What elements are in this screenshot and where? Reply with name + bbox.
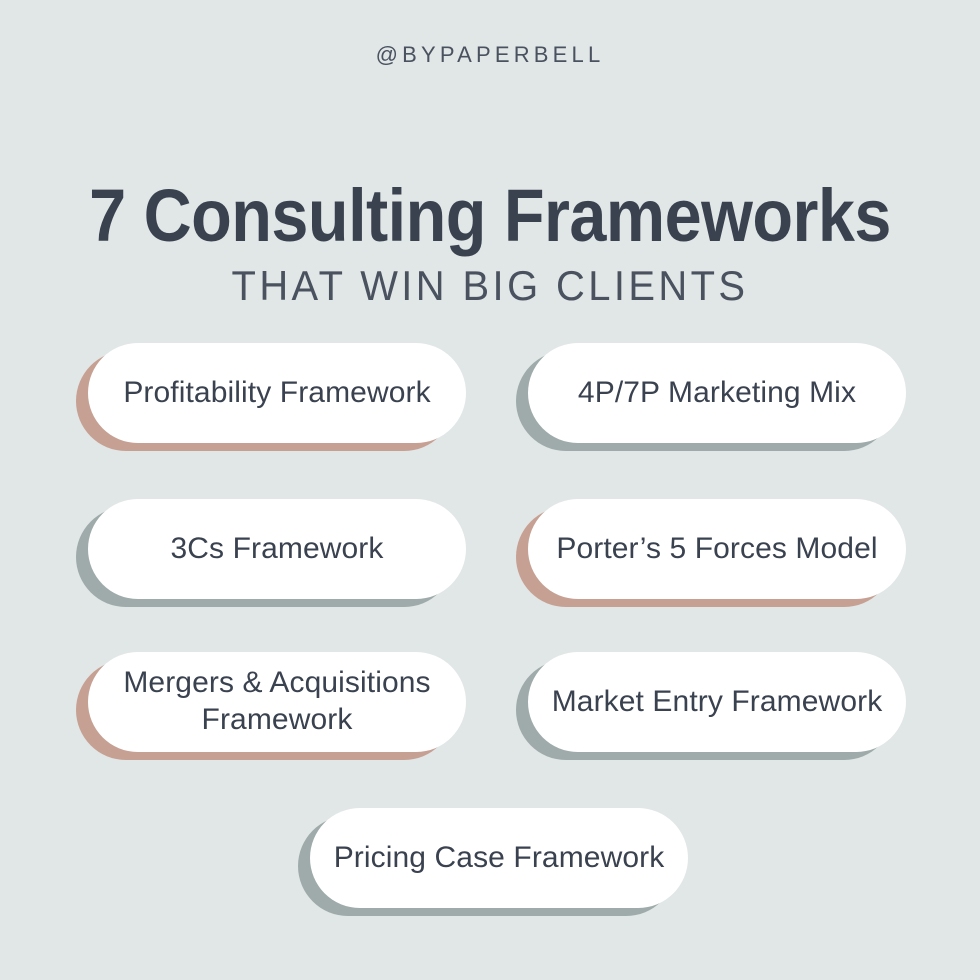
card-face: Pricing Case Framework [310, 808, 688, 908]
framework-card-label: Mergers & Acquisitions Framework [123, 665, 430, 738]
infographic-poster: @BYPAPERBELL 7 Consulting Frameworks THA… [0, 0, 980, 980]
framework-card-label: Profitability Framework [123, 375, 430, 412]
framework-card[interactable]: Mergers & Acquisitions Framework [88, 652, 466, 752]
framework-card-label: 3Cs Framework [171, 531, 384, 568]
card-face: Mergers & Acquisitions Framework [88, 652, 466, 752]
card-face: 3Cs Framework [88, 499, 466, 599]
framework-card-list: Profitability Framework 4P/7P Marketing … [0, 0, 980, 980]
framework-card[interactable]: Pricing Case Framework [310, 808, 688, 908]
card-face: 4P/7P Marketing Mix [528, 343, 906, 443]
framework-card-label: Market Entry Framework [552, 684, 883, 721]
card-face: Porter’s 5 Forces Model [528, 499, 906, 599]
card-face: Profitability Framework [88, 343, 466, 443]
framework-card[interactable]: 3Cs Framework [88, 499, 466, 599]
framework-card[interactable]: Profitability Framework [88, 343, 466, 443]
framework-card[interactable]: 4P/7P Marketing Mix [528, 343, 906, 443]
framework-card[interactable]: Porter’s 5 Forces Model [528, 499, 906, 599]
framework-card-label: Porter’s 5 Forces Model [556, 531, 877, 568]
framework-card[interactable]: Market Entry Framework [528, 652, 906, 752]
framework-card-label: Pricing Case Framework [334, 840, 665, 877]
framework-card-label: 4P/7P Marketing Mix [578, 375, 856, 412]
card-face: Market Entry Framework [528, 652, 906, 752]
